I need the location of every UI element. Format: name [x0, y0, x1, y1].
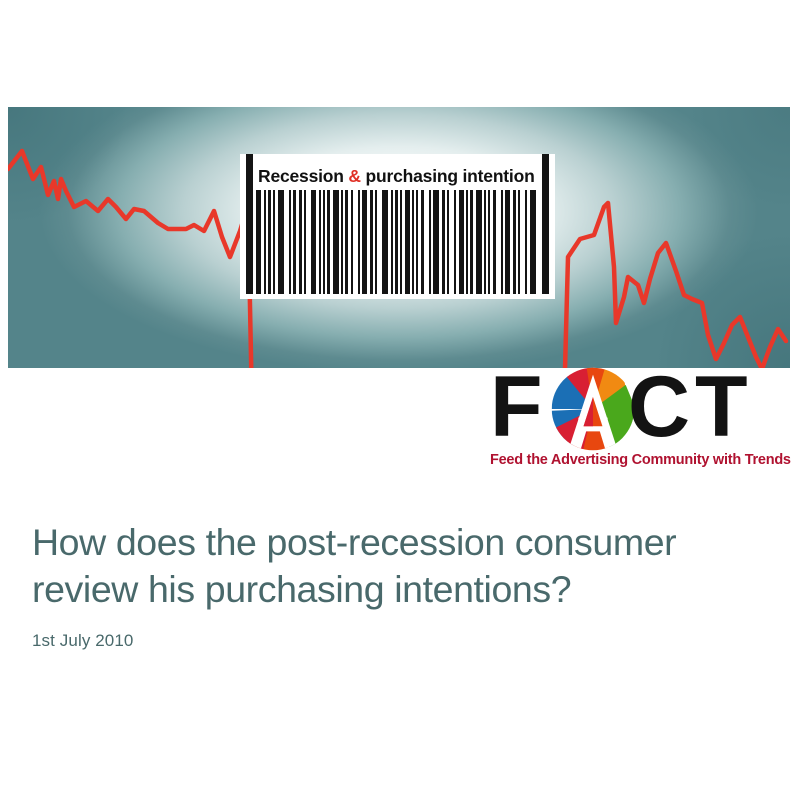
line-graph-right-segment	[564, 203, 786, 368]
barcode-bar	[273, 190, 275, 294]
barcode-bar	[421, 190, 424, 294]
logo-letter-f: F	[490, 364, 541, 450]
barcode-bar	[488, 190, 490, 294]
barcode-bar	[299, 190, 302, 294]
barcode-bar	[268, 190, 271, 294]
barcode-bar	[454, 190, 456, 294]
barcode-bar	[304, 190, 306, 294]
barcode-bar	[323, 190, 325, 294]
barcode-bar	[289, 190, 291, 294]
barcode-bar	[416, 190, 418, 294]
caption-suffix: purchasing intention	[361, 166, 535, 186]
barcode-bar	[264, 190, 266, 294]
barcode-guard-right	[542, 154, 549, 294]
barcode-bar	[327, 190, 330, 294]
barcode-bar	[395, 190, 398, 294]
logo-letter-t: T	[695, 364, 746, 450]
logo-tagline: Feed the Advertising Community with Tren…	[490, 452, 793, 468]
barcode-bar	[375, 190, 377, 294]
barcode-bar	[333, 190, 339, 294]
barcode-bar	[278, 190, 284, 294]
barcode-bar	[466, 190, 468, 294]
barcode-bar	[319, 190, 321, 294]
barcode-bar	[505, 190, 510, 294]
barcode-bar	[429, 190, 431, 294]
barcode-bar	[513, 190, 516, 294]
fact-logo: F	[488, 368, 793, 478]
barcode-bar	[293, 190, 296, 294]
line-graph-left-segment	[8, 151, 252, 368]
barcode-bar	[400, 190, 402, 294]
title-block: How does the post-recession consumer rev…	[32, 519, 772, 651]
slide-title: How does the post-recession consumer rev…	[32, 519, 772, 613]
fact-logo-wordmark: F	[488, 368, 793, 450]
barcode-bar	[459, 190, 464, 294]
barcode-bar	[518, 190, 520, 294]
barcode-bar	[447, 190, 449, 294]
barcode-bar	[256, 190, 261, 294]
barcode-bar	[433, 190, 439, 294]
barcode-bar	[530, 190, 536, 294]
barcode-bar	[362, 190, 367, 294]
barcode-bar	[493, 190, 496, 294]
caption-prefix: Recession	[258, 166, 348, 186]
barcode-bar	[476, 190, 482, 294]
barcode-bar	[391, 190, 393, 294]
barcode-caption-text: Recession & purchasing intention	[258, 163, 543, 189]
barcode-bar	[412, 190, 414, 294]
barcode-bar	[525, 190, 527, 294]
barcode-bar	[370, 190, 373, 294]
barcode-guard-left	[246, 154, 253, 294]
barcode-bar	[341, 190, 343, 294]
barcode-bar	[382, 190, 388, 294]
logo-letter-c: C	[628, 364, 688, 450]
slide-date: 1st July 2010	[32, 631, 772, 651]
barcode-bar	[311, 190, 316, 294]
barcode-bar	[345, 190, 348, 294]
barcode-bar	[484, 190, 486, 294]
barcode-bar	[501, 190, 503, 294]
barcode-bar	[405, 190, 410, 294]
barcode-bar	[470, 190, 473, 294]
barcode-bar	[358, 190, 360, 294]
caption-ampersand: &	[348, 166, 360, 186]
barcode-bar	[351, 190, 353, 294]
logo-letter-a-circle-icon	[550, 366, 636, 452]
barcode-bars	[246, 190, 549, 294]
barcode-bar	[442, 190, 445, 294]
